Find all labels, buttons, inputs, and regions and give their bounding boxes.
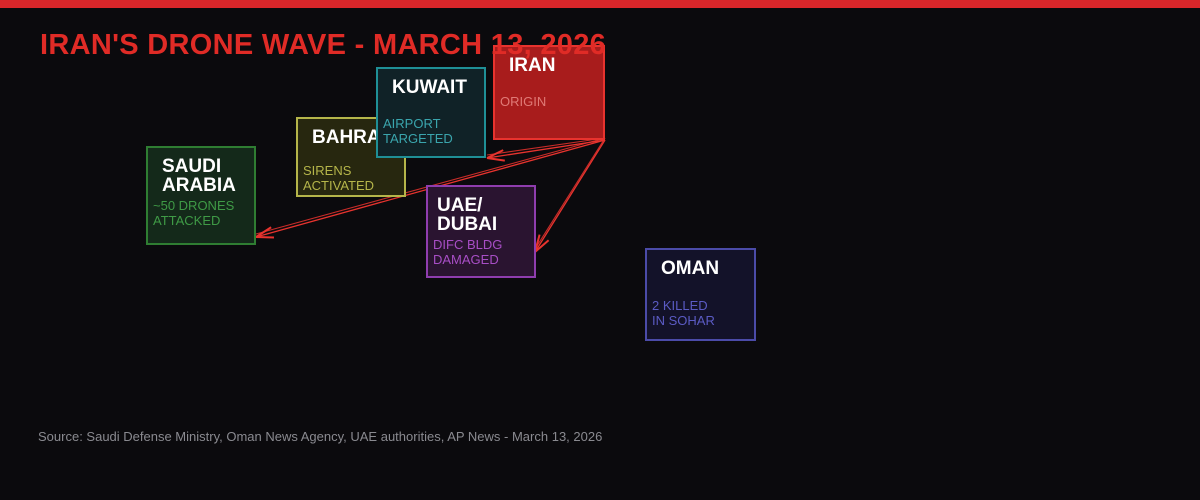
country-box-saudi[interactable]: SAUDI ARABIA~50 DRONES ATTACKED — [146, 146, 256, 245]
country-note-oman: 2 KILLED IN SOHAR — [652, 298, 715, 329]
country-note-bahrain: SIRENS ACTIVATED — [303, 163, 374, 194]
country-note-iran: ORIGIN — [500, 94, 546, 109]
country-label-saudi: SAUDI ARABIA — [162, 157, 236, 196]
page-title: IRAN'S DRONE WAVE - MARCH 13, 2026 — [40, 29, 606, 62]
infographic-canvas: IRAN'S DRONE WAVE - MARCH 13, 2026 SAUDI… — [0, 0, 1200, 500]
country-box-oman[interactable]: OMAN2 KILLED IN SOHAR — [645, 248, 756, 341]
country-note-kuwait: AIRPORT TARGETED — [383, 116, 453, 147]
country-box-kuwait[interactable]: KUWAITAIRPORT TARGETED — [376, 67, 486, 158]
country-note-uae: DIFC BLDG DAMAGED — [433, 237, 502, 268]
source-attribution: Source: Saudi Defense Ministry, Oman New… — [38, 429, 602, 444]
accent-bar — [0, 0, 1200, 8]
attack-arrow-iran-to-uae — [535, 138, 605, 252]
country-box-uae[interactable]: UAE/ DUBAIDIFC BLDG DAMAGED — [426, 185, 536, 278]
country-label-uae: UAE/ DUBAI — [437, 196, 497, 235]
country-label-kuwait: KUWAIT — [392, 78, 467, 97]
country-note-saudi: ~50 DRONES ATTACKED — [153, 198, 234, 229]
attack-arrow-iran-to-bahrain — [487, 138, 605, 161]
country-label-oman: OMAN — [661, 259, 719, 278]
